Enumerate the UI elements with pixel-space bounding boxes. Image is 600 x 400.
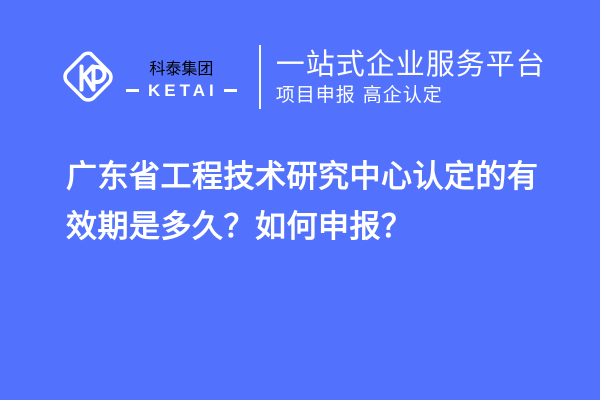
- brand-divider: [259, 45, 261, 109]
- logo-rule-right: [224, 89, 237, 92]
- headline-title: 广东省工程技术研究中心认定的有效期是多久？如何申报？: [66, 152, 566, 252]
- logo-name-cn: 科泰集团: [149, 55, 213, 79]
- promo-banner: 科泰集团 KETAI 一站式企业服务平台 项目申报 高企认定 广东省工程技术研究…: [0, 0, 600, 400]
- tagline-primary: 一站式企业服务平台: [276, 47, 546, 81]
- logo-wordmark: 科泰集团 KETAI: [126, 55, 237, 100]
- logo-name-latin: KETAI: [139, 82, 224, 100]
- logo-latin-row: KETAI: [126, 82, 237, 100]
- tagline-block: 一站式企业服务平台 项目申报 高企认定: [276, 47, 546, 107]
- ketai-diamond-kp-monogram-icon: [60, 49, 116, 105]
- logo-rule-left: [126, 89, 139, 92]
- ketai-logo[interactable]: 科泰集团 KETAI: [60, 49, 237, 105]
- tagline-secondary: 项目申报 高企认定: [276, 83, 546, 107]
- brand-header: 科泰集团 KETAI 一站式企业服务平台 项目申报 高企认定: [0, 38, 600, 116]
